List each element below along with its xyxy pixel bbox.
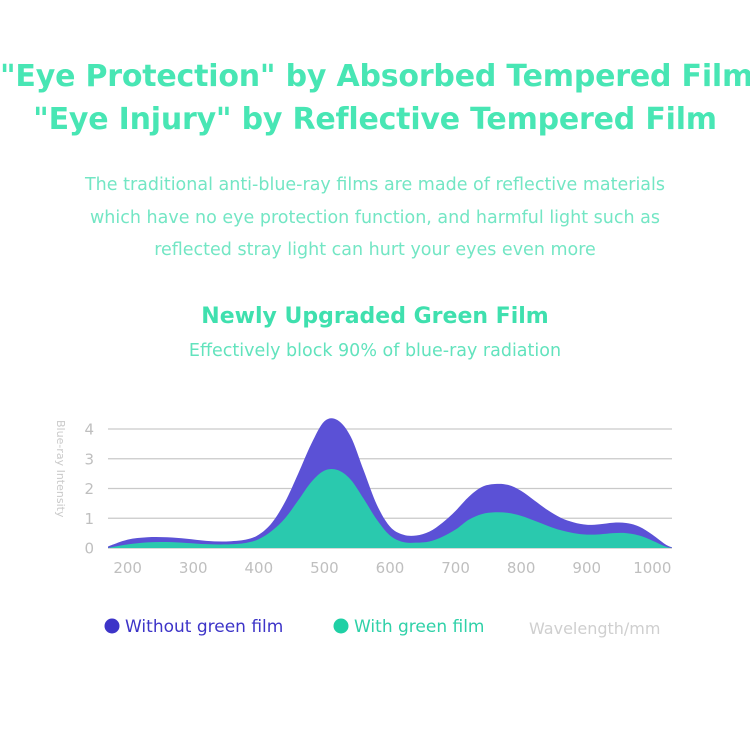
subheading-title: Newly Upgraded Green Film bbox=[0, 300, 750, 333]
x-tick-label: 600 bbox=[376, 559, 405, 577]
headline-block: "Eye Protection" by Absorbed Tempered Fi… bbox=[0, 0, 750, 141]
y-tick-label: 2 bbox=[84, 480, 94, 498]
chart-svg: 01234 2003004005006007008009001000 Blue-… bbox=[0, 400, 750, 665]
x-tick-label: 300 bbox=[179, 559, 208, 577]
area-series bbox=[108, 418, 672, 548]
blue-ray-chart: 01234 2003004005006007008009001000 Blue-… bbox=[0, 400, 750, 665]
legend-dot-icon bbox=[105, 619, 120, 634]
x-tick-label: 700 bbox=[441, 559, 470, 577]
subheading-subtitle: Effectively block 90% of blue-ray radiat… bbox=[0, 338, 750, 364]
y-tick-label: 3 bbox=[84, 450, 94, 468]
intro-paragraph: The traditional anti-blue-ray films are … bbox=[75, 169, 675, 266]
intro-line-3: reflected stray light can hurt your eyes… bbox=[75, 234, 675, 266]
intro-line-1: The traditional anti-blue-ray films are … bbox=[75, 169, 675, 201]
x-tick-label: 500 bbox=[310, 559, 339, 577]
x-tick-label: 1000 bbox=[633, 559, 671, 577]
x-tick-label: 900 bbox=[572, 559, 601, 577]
promo-page: "Eye Protection" by Absorbed Tempered Fi… bbox=[0, 0, 750, 750]
x-tick-label: 800 bbox=[507, 559, 536, 577]
y-tick-label: 0 bbox=[84, 540, 94, 558]
legend-label: Without green film bbox=[125, 617, 283, 637]
chart-x-tick-labels: 2003004005006007008009001000 bbox=[113, 559, 671, 577]
intro-line-2: which have no eye protection function, a… bbox=[75, 202, 675, 234]
x-tick-label: 400 bbox=[245, 559, 274, 577]
legend-dot-icon bbox=[334, 619, 349, 634]
subheading-block: Newly Upgraded Green Film Effectively bl… bbox=[0, 300, 750, 364]
headline-line-1: "Eye Protection" by Absorbed Tempered Fi… bbox=[0, 56, 750, 99]
y-tick-label: 4 bbox=[84, 421, 94, 439]
chart-y-tick-labels: 01234 bbox=[84, 421, 94, 558]
chart-x-axis-title: Wavelength/mm bbox=[529, 619, 660, 638]
x-tick-label: 200 bbox=[113, 559, 142, 577]
chart-area-series bbox=[108, 418, 672, 548]
y-tick-label: 1 bbox=[84, 510, 94, 528]
legend-label: With green film bbox=[354, 617, 485, 637]
chart-legend: Without green filmWith green film bbox=[105, 617, 485, 637]
headline-line-2: "Eye Injury" by Reflective Tempered Film bbox=[0, 99, 750, 142]
area-series bbox=[108, 469, 672, 548]
chart-y-axis-title: Blue-ray Intensity bbox=[54, 420, 67, 518]
